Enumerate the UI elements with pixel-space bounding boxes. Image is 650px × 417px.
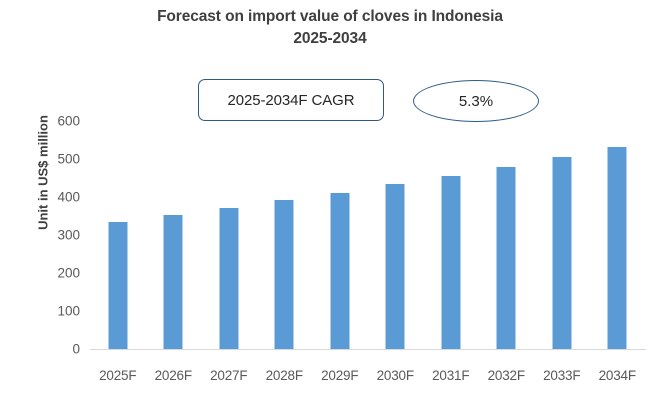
x-axis-tick-label: 2030F xyxy=(368,368,424,383)
x-axis-tick-label: 2029F xyxy=(312,368,368,383)
bar-2033F[interactable] xyxy=(552,157,571,349)
bar-slot xyxy=(146,121,202,349)
cagr-value-text: 5.3% xyxy=(459,93,493,110)
bar-slot xyxy=(479,121,535,349)
chart-title-line-1: Forecast on import value of cloves in In… xyxy=(157,8,503,25)
cagr-label-box: 2025-2034F CAGR xyxy=(198,79,384,121)
x-axis-tick-label: 2033F xyxy=(534,368,590,383)
x-axis-tick-label: 2032F xyxy=(479,368,535,383)
bar-2029F[interactable] xyxy=(330,193,349,349)
y-axis-tick-label: 100 xyxy=(34,304,80,319)
bar-slot xyxy=(257,121,313,349)
y-axis-tick-label: 200 xyxy=(34,266,80,281)
bar-2025F[interactable] xyxy=(108,222,127,349)
x-axis-tick-label: 2031F xyxy=(423,368,479,383)
bar-2034F[interactable] xyxy=(608,147,627,349)
bar-slot xyxy=(534,121,590,349)
cagr-label-text: 2025-2034F CAGR xyxy=(228,92,355,109)
bar-slot xyxy=(423,121,479,349)
x-axis-tick-label: 2034F xyxy=(590,368,646,383)
y-axis-tick-label: 500 xyxy=(34,152,80,167)
bar-slot xyxy=(201,121,257,349)
bar-slot xyxy=(368,121,424,349)
x-axis-tick-label: 2027F xyxy=(201,368,257,383)
bar-2028F[interactable] xyxy=(275,200,294,349)
bar-2027F[interactable] xyxy=(219,208,238,349)
y-axis-tick-label: 300 xyxy=(34,228,80,243)
chart-title: Forecast on import value of cloves in In… xyxy=(60,6,600,50)
x-axis-tick-label: 2028F xyxy=(257,368,313,383)
x-axis-line xyxy=(90,349,646,350)
chart-title-line-2: 2025-2034 xyxy=(60,28,600,50)
y-axis-tick-label: 400 xyxy=(34,190,80,205)
x-axis-tick-label: 2026F xyxy=(146,368,202,383)
bar-2030F[interactable] xyxy=(386,184,405,349)
bar-slot xyxy=(90,121,146,349)
x-axis-tick-labels: 2025F2026F2027F2028F2029F2030F2031F2032F… xyxy=(90,368,645,392)
y-axis-tick-label: 0 xyxy=(34,342,80,357)
cagr-value-ellipse: 5.3% xyxy=(413,80,539,122)
plot-area xyxy=(90,121,645,349)
bar-2032F[interactable] xyxy=(497,167,516,349)
x-axis-tick-label: 2025F xyxy=(90,368,146,383)
bar-slot xyxy=(312,121,368,349)
bar-slot xyxy=(590,121,646,349)
bar-2026F[interactable] xyxy=(164,215,183,349)
bar-chart: Forecast on import value of cloves in In… xyxy=(0,0,650,417)
y-axis-tick-label: 600 xyxy=(34,114,80,129)
y-axis-tick-labels: 6005004003002001000 xyxy=(34,0,80,417)
bar-2031F[interactable] xyxy=(441,176,460,349)
